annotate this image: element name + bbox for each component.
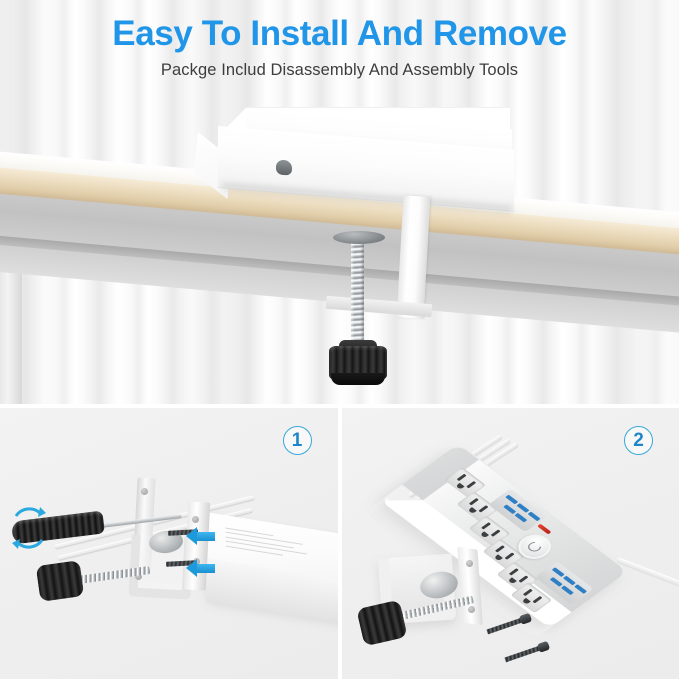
page-subtitle: Packge Includ Disassembly And Assembly T… [0, 61, 679, 80]
black-knob [356, 600, 407, 647]
power-cord [615, 557, 679, 591]
strip-side-port [276, 159, 292, 175]
assembly-steps: 1 [0, 408, 679, 679]
page-title: Easy To Install And Remove [0, 14, 679, 53]
bracket-hole [466, 560, 473, 567]
bracket-hole [468, 606, 475, 613]
threaded-screw [351, 238, 364, 356]
step-badge-1: 1 [283, 426, 312, 455]
bracket-front-plate [184, 501, 211, 590]
black-knob [36, 560, 85, 602]
step-badge-2: 2 [624, 426, 653, 455]
bracket-hole [141, 488, 148, 495]
rotation-arrows-icon [6, 504, 52, 552]
bracket-hole [192, 516, 199, 523]
hero-image: Easy To Install And Remove Packge Includ… [0, 0, 679, 404]
knob-base [331, 373, 385, 385]
assembly-step-one: 1 [0, 408, 338, 679]
product-infographic: Easy To Install And Remove Packge Includ… [0, 0, 679, 679]
header-text-block: Easy To Install And Remove Packge Includ… [0, 14, 679, 80]
assembly-step-two: 2 [342, 408, 679, 679]
black-knob [329, 340, 387, 384]
screw-pressure-pad [333, 231, 385, 244]
